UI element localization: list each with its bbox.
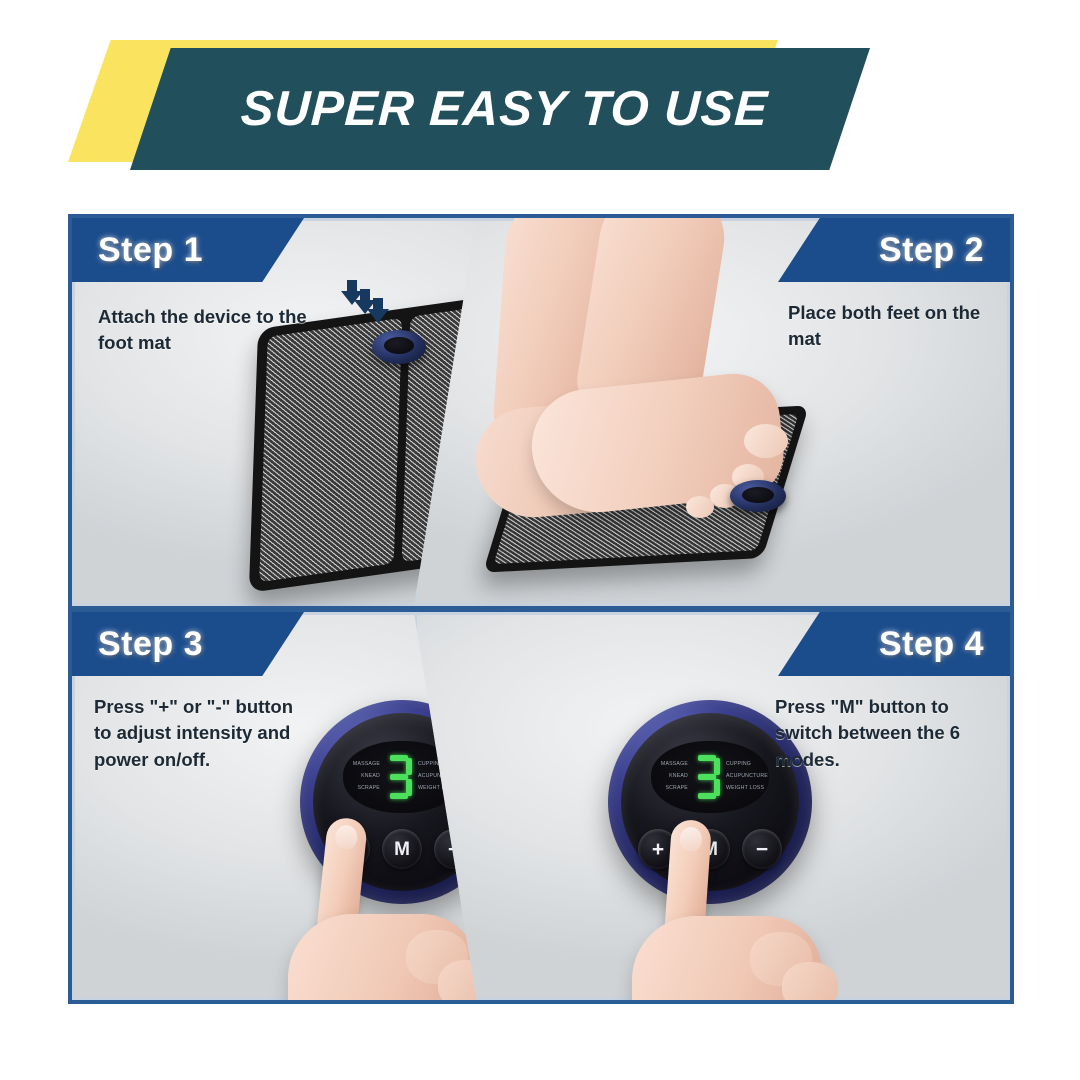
display-labels-right: CUPPING ACUPUNCTURE WEIGHT LOSS — [726, 762, 766, 792]
minus-button[interactable]: − — [742, 829, 782, 869]
display-digit — [694, 755, 720, 799]
mode-label: MASSAGE — [353, 762, 380, 768]
page-title: SUPER EASY TO USE — [230, 81, 770, 137]
mode-label: KNEAD — [361, 774, 380, 780]
mode-label: SCRAPE — [357, 786, 380, 792]
fingernail — [679, 826, 703, 851]
mode-label: MASSAGE — [661, 762, 688, 768]
controller-display: MASSAGE KNEAD SCRAPE CUPPING ACUPUNCTURE — [651, 741, 768, 812]
display-labels-left: MASSAGE KNEAD SCRAPE — [346, 762, 380, 792]
step-tab-label: Step 3 — [98, 625, 203, 664]
plus-icon: + — [652, 839, 664, 860]
banner-teal-plate: SUPER EASY TO USE — [130, 48, 870, 170]
panel-step-4: MASSAGE KNEAD SCRAPE CUPPING ACUPUNCTURE — [414, 612, 1010, 1000]
mode-label: ACUPUNCTURE — [726, 774, 768, 780]
header-banner: SUPER EASY TO USE — [0, 0, 1080, 200]
step-tab-label: Step 1 — [98, 231, 203, 270]
promo-infographic: SUPER EASY TO USE Step 1 Attach t — [0, 0, 1080, 1080]
mode-label: CUPPING — [726, 762, 751, 768]
mode-icon: M — [394, 840, 410, 859]
mode-label: KNEAD — [669, 774, 688, 780]
controller-puck-icon — [372, 330, 426, 364]
mode-button[interactable]: M — [382, 829, 422, 869]
step-caption-4: Press "M" button to switch between the 6… — [775, 694, 990, 773]
toe — [686, 496, 714, 518]
down-arrows-group — [352, 280, 378, 298]
knuckle — [782, 962, 838, 1000]
step-caption-2: Place both feet on the mat — [788, 300, 988, 353]
mode-label: WEIGHT LOSS — [726, 786, 764, 792]
step-tab-label: Step 2 — [879, 231, 984, 270]
steps-grid: Step 1 Attach the device to the foot mat — [68, 214, 1014, 1004]
display-labels-left: MASSAGE KNEAD SCRAPE — [654, 762, 688, 792]
fingernail — [334, 824, 358, 850]
toe-big — [744, 424, 788, 458]
step-tab-label: Step 4 — [879, 625, 984, 664]
display-digit — [386, 755, 412, 799]
mode-label: SCRAPE — [665, 786, 688, 792]
step-caption-3: Press "+" or "-" button to adjust intens… — [94, 694, 309, 773]
panel-step-2: Step 2 Place both feet on the mat — [414, 218, 1010, 606]
controller-puck-icon — [730, 480, 786, 512]
controller-face: MASSAGE KNEAD SCRAPE CUPPING ACUPUNCTURE — [621, 713, 799, 891]
minus-icon: − — [756, 839, 768, 860]
step-caption-1: Attach the device to the foot mat — [98, 304, 313, 357]
